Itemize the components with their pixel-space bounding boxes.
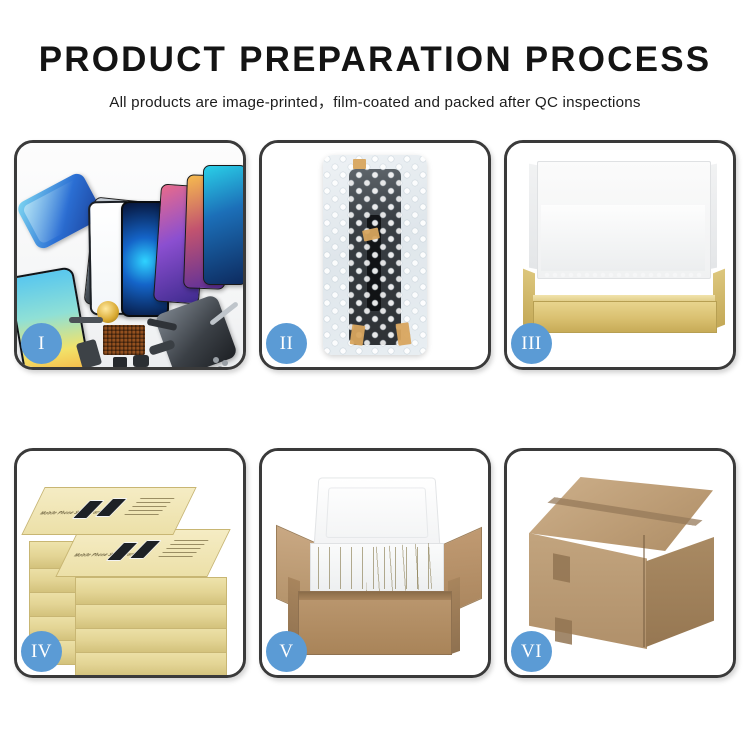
carton-front-panel-icon (298, 591, 452, 655)
step-badge-2: II (266, 323, 307, 364)
process-step-panel-2: II (259, 140, 491, 370)
step-badge-1: I (21, 323, 62, 364)
carton-tape-icon (553, 553, 570, 583)
screws-icon (213, 357, 219, 363)
yellow-boxes-stack-icon (366, 543, 436, 594)
box-label-spec-lines (123, 498, 175, 516)
bubble-wrap-package-icon (323, 155, 427, 355)
step-badge-4: IV (21, 631, 62, 672)
stacked-box-icon (75, 577, 227, 605)
box-stack-icon: Mobile Phone Spare Parts Mobile Phone Sp… (29, 473, 233, 663)
step-badge-5: V (266, 631, 307, 672)
process-step-panel-1: I (14, 140, 246, 370)
foam-sheet-icon (541, 205, 705, 271)
header: PRODUCT PREPARATION PROCESS All products… (0, 0, 750, 112)
stacked-box-lid-icon: Mobile Phone Spare Parts (21, 487, 196, 535)
bubble-wrap-texture-icon (323, 155, 427, 355)
carton-corner-edge-icon (643, 535, 645, 647)
process-step-panel-3: III (504, 140, 736, 370)
speaker-module-icon (133, 355, 149, 367)
stacked-box-icon (75, 625, 227, 653)
step-numeral: III (521, 333, 541, 355)
box-label-spec-lines (157, 540, 209, 558)
tape-piece-icon (350, 324, 366, 346)
camera-module-icon (113, 357, 127, 367)
page-subtitle: All products are image-printed，film-coat… (0, 79, 750, 112)
foam-lid-icon (313, 478, 440, 550)
flex-cable-icon (69, 317, 103, 323)
process-step-panel-5: V (259, 448, 491, 678)
circuit-board-icon (103, 325, 145, 355)
stacked-box-lid-icon: Mobile Phone Spare Parts (55, 529, 230, 577)
stacked-box-icon (75, 601, 227, 629)
infographic-page: PRODUCT PREPARATION PROCESS All products… (0, 0, 750, 750)
phone-display-teal-icon (203, 165, 243, 285)
step-numeral: I (38, 333, 45, 355)
page-title: PRODUCT PREPARATION PROCESS (0, 0, 750, 79)
carton-tape-icon (555, 617, 572, 645)
carton-front-face-icon (529, 533, 647, 649)
step-badge-6: VI (511, 631, 552, 672)
process-step-panel-6: VI (504, 448, 736, 678)
tape-piece-icon (353, 159, 366, 169)
step-numeral: II (280, 333, 294, 355)
step-numeral: IV (31, 641, 52, 663)
step-badge-3: III (511, 323, 552, 364)
step-numeral: VI (521, 641, 542, 663)
process-step-panel-4: Mobile Phone Spare Parts Mobile Phone Sp… (14, 448, 246, 678)
box-front-panel-icon (533, 301, 717, 333)
process-steps-grid: I II (14, 140, 736, 678)
carton-side-face-icon (646, 537, 714, 647)
step-numeral: V (279, 641, 293, 663)
